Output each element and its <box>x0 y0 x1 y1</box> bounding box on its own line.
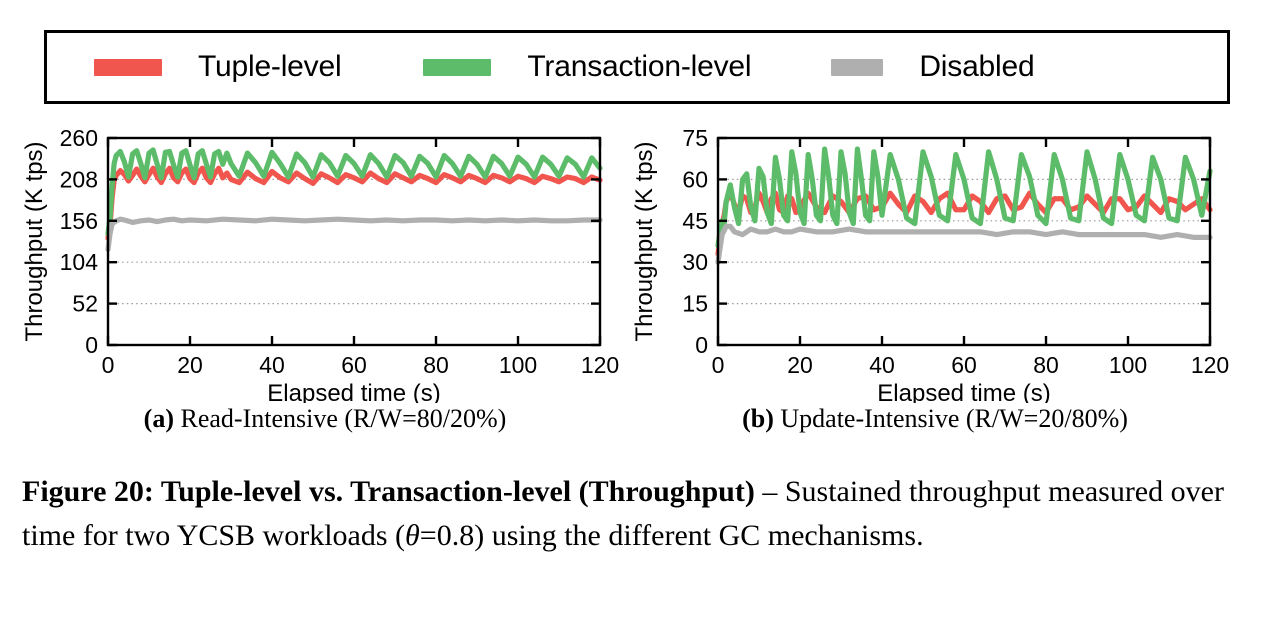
chart-panel-read-intensive: 052104156208260020406080100120Elapsed ti… <box>20 118 630 403</box>
figure-caption: Figure 20: Tuple-level vs. Transaction-l… <box>22 470 1250 558</box>
svg-text:60: 60 <box>682 166 708 192</box>
legend-entry-disabled: Disabled <box>831 50 1034 84</box>
svg-text:Throughput (K tps): Throughput (K tps) <box>631 141 658 341</box>
svg-text:0: 0 <box>85 332 98 358</box>
svg-text:0: 0 <box>695 332 708 358</box>
subcaption-marker-a: (a) <box>144 404 174 433</box>
svg-text:20: 20 <box>787 352 813 378</box>
svg-text:Elapsed time (s): Elapsed time (s) <box>267 380 440 403</box>
svg-text:0: 0 <box>712 352 725 378</box>
svg-text:100: 100 <box>499 352 537 378</box>
svg-text:45: 45 <box>682 208 708 234</box>
svg-text:75: 75 <box>682 125 708 151</box>
subcaption-update-intensive: (b) Update-Intensive (R/W=20/80%) <box>630 404 1240 434</box>
figure-caption-theta: θ <box>405 519 420 552</box>
svg-text:208: 208 <box>60 166 98 192</box>
subcaption-read-intensive: (a) Read-Intensive (R/W=80/20%) <box>20 404 630 434</box>
legend-swatch-disabled <box>831 59 883 76</box>
svg-text:Throughput (K tps): Throughput (K tps) <box>21 141 48 341</box>
svg-text:156: 156 <box>60 208 98 234</box>
figure-caption-line3: different GC mechanisms. <box>608 519 923 552</box>
figure-caption-line2b: =0.8) using the <box>420 519 601 552</box>
legend-label-tuple-level: Tuple-level <box>198 50 341 84</box>
svg-text:0: 0 <box>102 352 115 378</box>
svg-text:80: 80 <box>1033 352 1059 378</box>
svg-text:120: 120 <box>581 352 619 378</box>
legend-entry-transaction-level: Transaction-level <box>423 50 751 84</box>
svg-text:104: 104 <box>60 249 99 275</box>
svg-text:52: 52 <box>72 291 98 317</box>
legend-entry-tuple-level: Tuple-level <box>94 50 341 84</box>
subcaption-text-a: Read-Intensive (R/W=80/20%) <box>174 404 506 433</box>
svg-text:120: 120 <box>1191 352 1229 378</box>
subcaption-marker-b: (b) <box>742 404 774 433</box>
svg-text:30: 30 <box>682 249 708 275</box>
legend-label-transaction-level: Transaction-level <box>527 50 751 84</box>
svg-text:60: 60 <box>951 352 977 378</box>
figure-caption-rest1: – Sustained <box>755 475 902 508</box>
svg-text:15: 15 <box>682 291 708 317</box>
chart-legend: Tuple-level Transaction-level Disabled <box>44 30 1230 104</box>
svg-text:Elapsed time (s): Elapsed time (s) <box>877 380 1050 403</box>
svg-text:80: 80 <box>423 352 449 378</box>
svg-text:100: 100 <box>1109 352 1147 378</box>
legend-swatch-tuple-level <box>94 59 162 76</box>
svg-text:60: 60 <box>341 352 367 378</box>
chart-plot-read-intensive: 052104156208260020406080100120Elapsed ti… <box>20 118 630 403</box>
legend-swatch-transaction-level <box>423 59 491 76</box>
chart-plot-update-intensive: 01530456075020406080100120Elapsed time (… <box>630 118 1240 403</box>
figure-caption-bold: Figure 20: Tuple-level vs. Transaction-l… <box>22 475 755 508</box>
svg-text:260: 260 <box>60 125 98 151</box>
legend-label-disabled: Disabled <box>919 50 1034 84</box>
chart-panel-update-intensive: 01530456075020406080100120Elapsed time (… <box>630 118 1240 403</box>
svg-text:40: 40 <box>869 352 895 378</box>
subcaption-text-b: Update-Intensive (R/W=20/80%) <box>774 404 1128 433</box>
svg-text:40: 40 <box>259 352 285 378</box>
svg-text:20: 20 <box>177 352 203 378</box>
